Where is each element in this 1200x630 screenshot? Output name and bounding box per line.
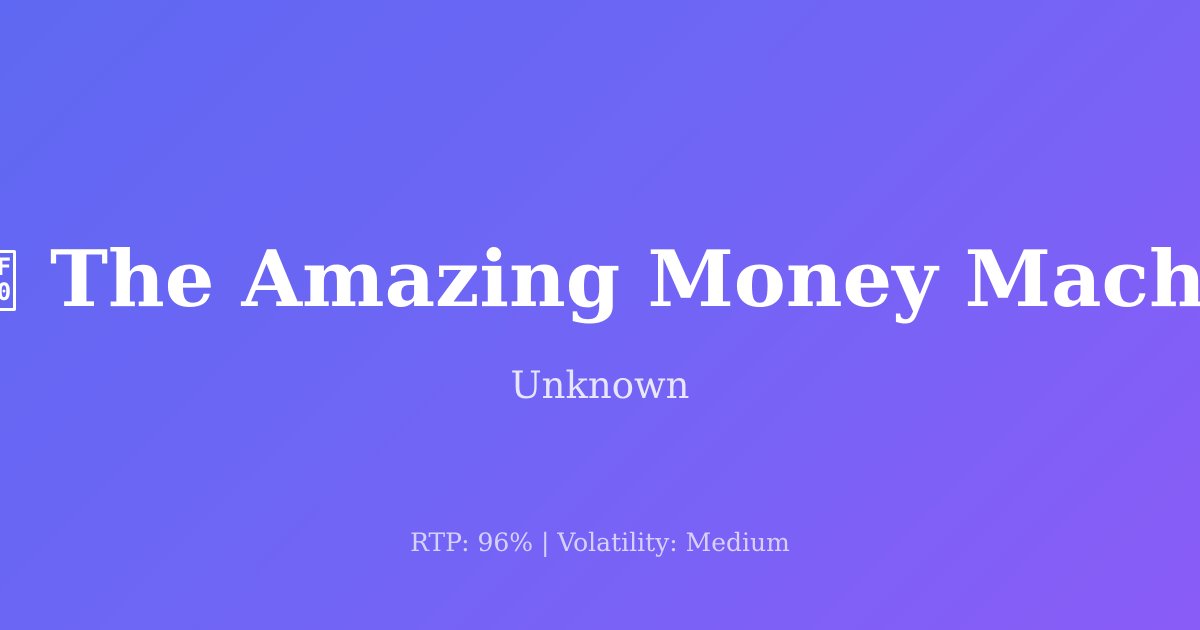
page-title: The Amazing Money Machine [50,232,1200,328]
tofu-glyph-stack: F 0 [0,255,10,305]
card-subtitle: Unknown [0,363,1200,409]
broken-image-icon: F 0 [0,250,16,311]
card-meta-stats: RTP: 96% | Volatility: Medium [0,527,1200,559]
tofu-glyph-top: F [0,255,10,280]
tofu-glyph-bottom: 0 [0,280,10,305]
og-share-card: F 0 The Amazing Money Machine Unknown RT… [0,0,1200,630]
title-row: F 0 The Amazing Money Machine [0,232,1200,328]
